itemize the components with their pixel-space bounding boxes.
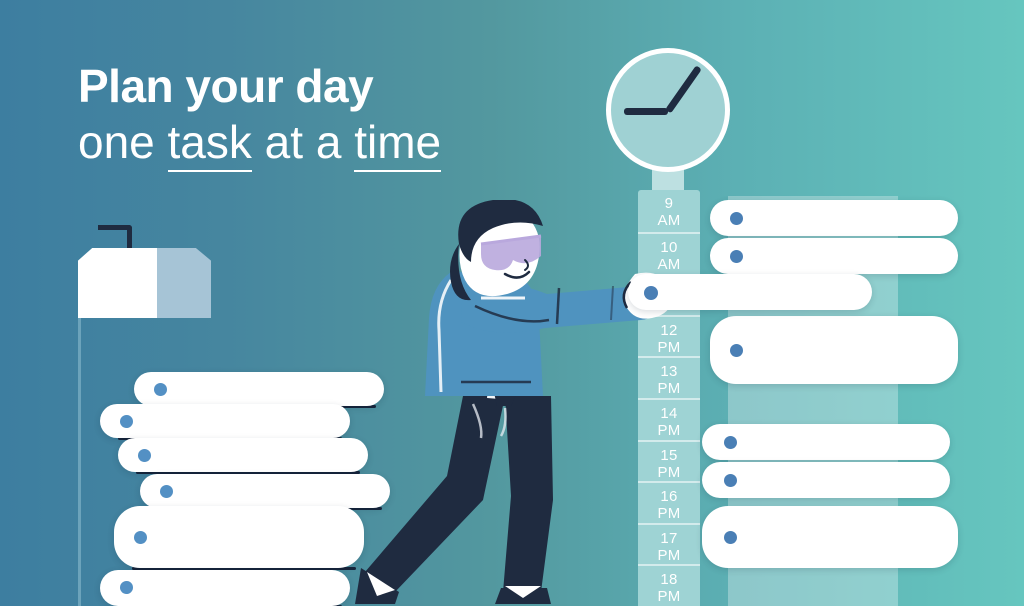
- leg-front: [503, 396, 553, 592]
- person-pushing-task: [355, 200, 685, 606]
- task-dot-icon: [724, 474, 737, 487]
- headline-block: Plan your day one task at a time: [78, 62, 548, 169]
- task-dot-icon: [724, 531, 737, 544]
- task-card[interactable]: [710, 238, 958, 274]
- active-task-card[interactable]: [628, 274, 872, 310]
- task-dot-icon: [730, 250, 743, 263]
- headline-segment-3: time: [354, 116, 441, 172]
- clock-hour-hand: [624, 108, 668, 115]
- task-dot-icon: [644, 286, 658, 300]
- tag-body: [78, 248, 211, 318]
- task-dot-icon: [160, 485, 173, 498]
- tag-left-face: [78, 248, 157, 318]
- tag-right-face: [157, 248, 211, 318]
- task-card[interactable]: [710, 316, 958, 384]
- task-dot-icon: [120, 415, 133, 428]
- clock-face: [606, 48, 730, 172]
- leg-back: [365, 396, 505, 592]
- task-card[interactable]: [114, 506, 364, 568]
- headline-segment-1: task: [168, 116, 252, 172]
- headline-segment-0: one: [78, 116, 168, 168]
- task-dot-icon: [730, 344, 743, 357]
- task-card[interactable]: [710, 200, 958, 236]
- task-card[interactable]: [134, 372, 384, 406]
- task-dot-icon: [154, 383, 167, 396]
- headline-segment-2: at a: [252, 116, 354, 168]
- task-card[interactable]: [702, 462, 950, 498]
- task-dot-icon: [730, 212, 743, 225]
- task-card[interactable]: [100, 570, 350, 606]
- headline-secondary: one task at a time: [78, 116, 548, 169]
- trouser-crease-right: [501, 408, 506, 436]
- task-card[interactable]: [100, 404, 350, 438]
- hanging-tag: [78, 225, 218, 340]
- headline-primary: Plan your day: [78, 62, 548, 112]
- task-dot-icon: [724, 436, 737, 449]
- task-card[interactable]: [702, 506, 958, 568]
- task-dot-icon: [120, 581, 133, 594]
- tag-vertical-line: [78, 318, 81, 606]
- illustration-canvas: Plan your day one task at a time 9AM10AM…: [0, 0, 1024, 606]
- task-dot-icon: [138, 449, 151, 462]
- task-card[interactable]: [702, 424, 950, 460]
- clock-minute-hand: [665, 65, 702, 113]
- task-card[interactable]: [118, 438, 368, 472]
- task-card[interactable]: [140, 474, 390, 508]
- task-dot-icon: [134, 531, 147, 544]
